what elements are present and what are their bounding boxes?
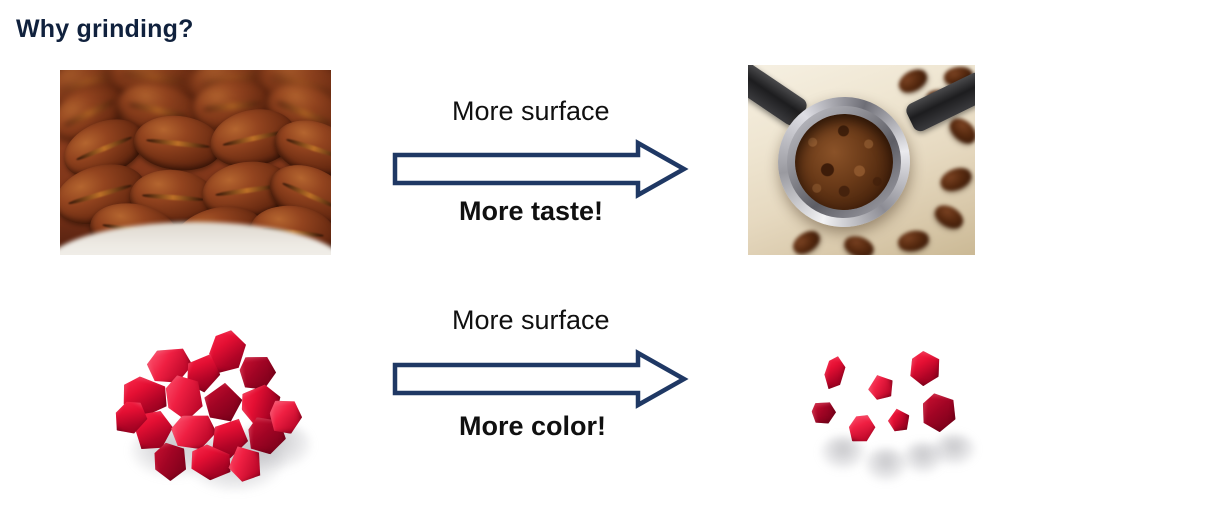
right-block-arrow-crystals [392, 350, 688, 408]
arrow-label-top-coffee: More surface [452, 96, 610, 127]
scattered-ruby-crystals-photo [806, 352, 986, 492]
ground-coffee-portafilter-photo [748, 65, 975, 255]
arrow-shape [395, 143, 684, 195]
ruby-crystal-cluster-photo [108, 330, 323, 495]
whole-roasted-coffee-beans-photo [60, 70, 331, 255]
page-title: Why grinding? [16, 15, 194, 44]
arrow-label-top-crystals: More surface [452, 305, 610, 336]
right-block-arrow-coffee [392, 140, 688, 198]
arrow-label-bottom-crystals: More color! [459, 411, 606, 442]
arrow-label-bottom-coffee: More taste! [459, 196, 603, 227]
arrow-shape [395, 353, 684, 405]
